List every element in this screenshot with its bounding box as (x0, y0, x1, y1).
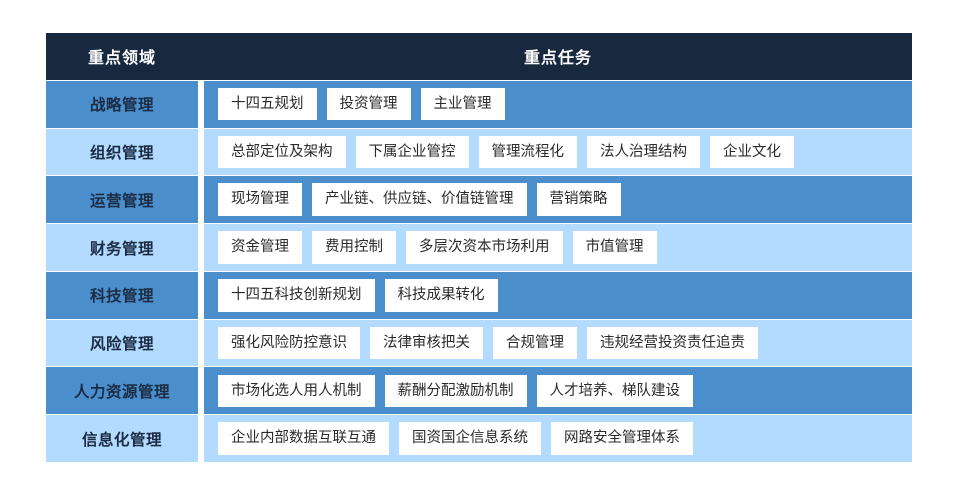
task-chip-list: 十四五科技创新规划科技成果转化 (218, 279, 498, 312)
task-chip[interactable]: 网路安全管理体系 (551, 422, 693, 455)
tasks-cell: 现场管理产业链、供应链、价值链管理营销策略 (204, 176, 912, 223)
task-chip[interactable]: 费用控制 (312, 231, 396, 264)
task-chip[interactable]: 多层次资本市场利用 (406, 231, 563, 264)
task-chip-list: 企业内部数据互联互通国资国企信息系统网路安全管理体系 (218, 422, 693, 455)
task-chip[interactable]: 违规经营投资责任追责 (587, 327, 758, 360)
tasks-cell: 市场化选人用人机制薪酬分配激励机制人才培养、梯队建设 (204, 367, 912, 414)
key-areas-tasks-table: 重点领域 重点任务 战略管理十四五规划投资管理主业管理组织管理总部定位及架构下属… (46, 33, 912, 462)
tasks-cell: 总部定位及架构下属企业管控管理流程化法人治理结构企业文化 (204, 129, 912, 176)
domain-cell: 信息化管理 (46, 415, 198, 462)
tasks-cell: 十四五科技创新规划科技成果转化 (204, 272, 912, 319)
task-chip[interactable]: 人才培养、梯队建设 (537, 375, 694, 408)
task-chip[interactable]: 总部定位及架构 (218, 136, 346, 169)
task-chip[interactable]: 十四五规划 (218, 88, 317, 121)
task-chip-list: 总部定位及架构下属企业管控管理流程化法人治理结构企业文化 (218, 136, 794, 169)
task-chip[interactable]: 合规管理 (493, 327, 577, 360)
table-header-row: 重点领域 重点任务 (46, 33, 912, 80)
task-chip[interactable]: 主业管理 (421, 88, 505, 121)
domain-cell: 运营管理 (46, 176, 198, 223)
domain-cell: 科技管理 (46, 272, 198, 319)
header-domain-title: 重点领域 (88, 44, 156, 68)
table-row: 人力资源管理市场化选人用人机制薪酬分配激励机制人才培养、梯队建设 (46, 367, 912, 414)
domain-cell: 组织管理 (46, 129, 198, 176)
domain-label: 财务管理 (90, 237, 154, 259)
table-row: 组织管理总部定位及架构下属企业管控管理流程化法人治理结构企业文化 (46, 129, 912, 176)
task-chip[interactable]: 十四五科技创新规划 (218, 279, 375, 312)
domain-label: 组织管理 (90, 141, 154, 163)
domain-cell: 人力资源管理 (46, 367, 198, 414)
task-chip[interactable]: 企业文化 (710, 136, 794, 169)
task-chip[interactable]: 现场管理 (218, 183, 302, 216)
task-chip[interactable]: 管理流程化 (479, 136, 578, 169)
tasks-cell: 强化风险防控意识法律审核把关合规管理违规经营投资责任追责 (204, 320, 912, 367)
task-chip-list: 现场管理产业链、供应链、价值链管理营销策略 (218, 183, 621, 216)
domain-label: 信息化管理 (82, 428, 162, 450)
domain-label: 人力资源管理 (74, 380, 170, 402)
tasks-cell: 十四五规划投资管理主业管理 (204, 81, 912, 128)
domain-label: 风险管理 (90, 332, 154, 354)
task-chip[interactable]: 产业链、供应链、价值链管理 (312, 183, 527, 216)
tasks-cell: 企业内部数据互联互通国资国企信息系统网路安全管理体系 (204, 415, 912, 462)
header-cell-domain: 重点领域 (46, 33, 198, 80)
task-chip-list: 十四五规划投资管理主业管理 (218, 88, 505, 121)
table-row: 风险管理强化风险防控意识法律审核把关合规管理违规经营投资责任追责 (46, 320, 912, 367)
task-chip[interactable]: 资金管理 (218, 231, 302, 264)
domain-cell: 风险管理 (46, 320, 198, 367)
task-chip[interactable]: 下属企业管控 (356, 136, 469, 169)
task-chip-list: 资金管理费用控制多层次资本市场利用市值管理 (218, 231, 657, 264)
task-chip[interactable]: 强化风险防控意识 (218, 327, 360, 360)
task-chip-list: 市场化选人用人机制薪酬分配激励机制人才培养、梯队建设 (218, 375, 693, 408)
task-chip[interactable]: 企业内部数据互联互通 (218, 422, 389, 455)
task-chip-list: 强化风险防控意识法律审核把关合规管理违规经营投资责任追责 (218, 327, 758, 360)
domain-cell: 财务管理 (46, 224, 198, 271)
task-chip[interactable]: 国资国企信息系统 (399, 422, 541, 455)
table-row: 财务管理资金管理费用控制多层次资本市场利用市值管理 (46, 224, 912, 271)
table-row: 科技管理十四五科技创新规划科技成果转化 (46, 272, 912, 319)
task-chip[interactable]: 市值管理 (573, 231, 657, 264)
table-row: 运营管理现场管理产业链、供应链、价值链管理营销策略 (46, 176, 912, 223)
header-tasks-title: 重点任务 (524, 44, 592, 68)
tasks-cell: 资金管理费用控制多层次资本市场利用市值管理 (204, 224, 912, 271)
domain-label: 科技管理 (90, 284, 154, 306)
task-chip[interactable]: 薪酬分配激励机制 (385, 375, 527, 408)
header-cell-tasks: 重点任务 (204, 33, 912, 80)
task-chip[interactable]: 投资管理 (327, 88, 411, 121)
table-row: 战略管理十四五规划投资管理主业管理 (46, 81, 912, 128)
task-chip[interactable]: 市场化选人用人机制 (218, 375, 375, 408)
task-chip[interactable]: 营销策略 (537, 183, 621, 216)
task-chip[interactable]: 法人治理结构 (587, 136, 700, 169)
task-chip[interactable]: 科技成果转化 (385, 279, 498, 312)
table-row: 信息化管理企业内部数据互联互通国资国企信息系统网路安全管理体系 (46, 415, 912, 462)
task-chip[interactable]: 法律审核把关 (370, 327, 483, 360)
domain-label: 战略管理 (90, 93, 154, 115)
domain-cell: 战略管理 (46, 81, 198, 128)
domain-label: 运营管理 (90, 189, 154, 211)
